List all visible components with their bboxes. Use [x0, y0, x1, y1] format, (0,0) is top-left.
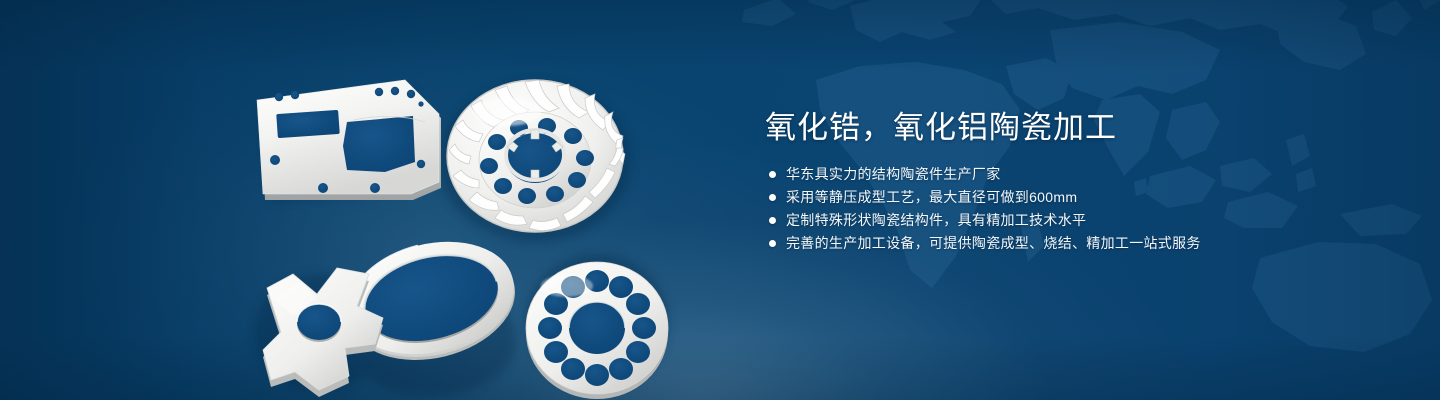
feature-list-item: 完善的生产加工设备，可提供陶瓷成型、烧结、精加工一站式服务 [765, 233, 1385, 256]
bullet-dot-icon [769, 217, 776, 224]
feature-list-item: 华东具实力的结构陶瓷件生产厂家 [765, 164, 1385, 187]
ceramic-cross-shaped-part [263, 268, 383, 397]
feature-text: 定制特殊形状陶瓷结构件，具有精加工技术水平 [786, 210, 1086, 231]
banner-feature-list: 华东具实力的结构陶瓷件生产厂家 采用等静压成型工艺，最大直径可做到600mm 定… [765, 164, 1385, 256]
feature-list-item: 采用等静压成型工艺，最大直径可做到600mm [765, 187, 1385, 210]
banner-text-column: 氧化锆，氧化铝陶瓷加工 华东具实力的结构陶瓷件生产厂家 采用等静压成型工艺，最大… [765, 108, 1385, 256]
ceramic-perforated-disc [526, 262, 668, 399]
ceramic-plate-with-cutouts [257, 80, 441, 200]
bullet-dot-icon [769, 240, 776, 247]
bullet-dot-icon [769, 171, 776, 178]
bullet-dot-icon [769, 194, 776, 201]
feature-text: 华东具实力的结构陶瓷件生产厂家 [786, 164, 1001, 185]
feature-text: 完善的生产加工设备，可提供陶瓷成型、烧结、精加工一站式服务 [786, 233, 1201, 254]
ceramic-impeller-vaned-disc [447, 80, 625, 232]
banner-title: 氧化锆，氧化铝陶瓷加工 [765, 108, 1385, 148]
feature-list-item: 定制特殊形状陶瓷结构件，具有精加工技术水平 [765, 210, 1385, 233]
feature-text: 采用等静压成型工艺，最大直径可做到600mm [786, 187, 1077, 208]
ceramic-product-banner: 氧化锆，氧化铝陶瓷加工 华东具实力的结构陶瓷件生产厂家 采用等静压成型工艺，最大… [0, 0, 1440, 400]
ceramic-products-photo-group [235, 40, 705, 385]
